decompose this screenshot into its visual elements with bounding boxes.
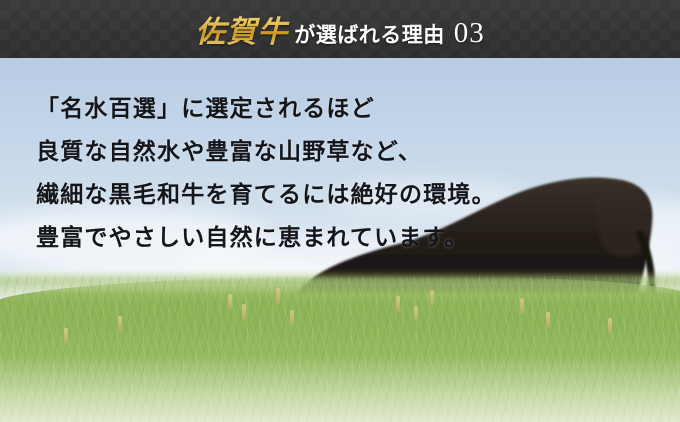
- header-title-group: 佐賀牛 が選ばれる理由 03: [195, 7, 485, 51]
- copy-line-2: 良質な自然水や豊富な山野草など、: [36, 130, 680, 173]
- brand-name-saga-beef: 佐賀牛: [195, 7, 292, 51]
- copy-line-1: 「名水百選」に選定されるほど: [36, 87, 680, 130]
- copy-line-4: 豊富でやさしい自然に恵まれています。: [36, 216, 680, 259]
- pasture-photo: 「名水百選」に選定されるほど 良質な自然水や豊富な山野草など、 繊細な黒毛和牛を…: [0, 58, 680, 422]
- promo-copy-block: 「名水百選」に選定されるほど 良質な自然水や豊富な山野草など、 繊細な黒毛和牛を…: [0, 58, 680, 422]
- banner-header: 佐賀牛 が選ばれる理由 03: [0, 0, 680, 58]
- promo-banner: 佐賀牛 が選ばれる理由 03: [0, 0, 680, 422]
- header-reason-number: 03: [445, 17, 485, 50]
- copy-line-3: 繊細な黒毛和牛を育てるには絶好の環境。: [36, 173, 680, 216]
- header-subtitle: が選ばれる理由: [292, 19, 445, 49]
